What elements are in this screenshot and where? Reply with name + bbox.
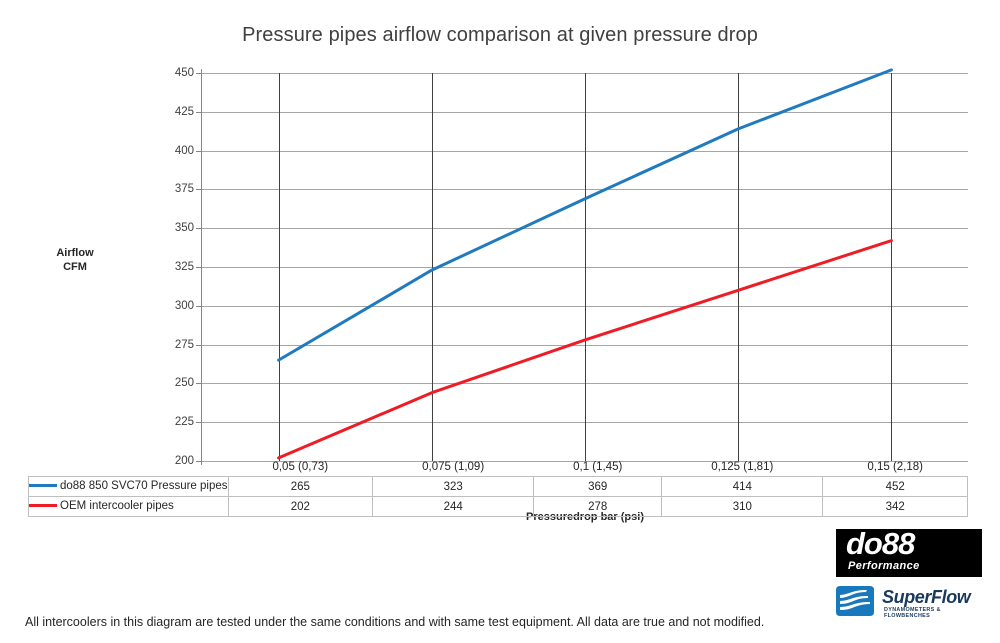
- table-row: OEM intercooler pipes202244278310342: [29, 497, 968, 517]
- legend-entry-1: OEM intercooler pipes: [29, 497, 229, 517]
- y-tick-450: [196, 73, 202, 74]
- x-tick-label-4: 0,15 (2,18): [823, 457, 968, 477]
- y-axis-tick-labels: 200225250275300325350375400425450: [148, 73, 194, 461]
- table-cell-value: 244: [373, 497, 534, 517]
- table-row-categories: 0,05 (0,73)0,075 (1,09)0,1 (1,45)0,125 (…: [29, 457, 968, 477]
- table-cell-value: 278: [534, 497, 662, 517]
- y-tick-350: [196, 228, 202, 229]
- table-cell-value: 323: [373, 477, 534, 497]
- table-cell-value: 414: [662, 477, 823, 497]
- do88-wordmark: do88: [846, 529, 914, 561]
- y-tick-275: [196, 345, 202, 346]
- x-tick-label-3: 0,125 (1,81): [662, 457, 823, 477]
- line-do88-pressure-pipes: [279, 70, 892, 360]
- legend-swatch-icon: [29, 484, 57, 487]
- table-corner-cell: [29, 457, 229, 477]
- y-tick-label-275: 275: [154, 339, 194, 351]
- y-tick-225: [196, 422, 202, 423]
- footer-note: All intercoolers in this diagram are tes…: [25, 615, 764, 629]
- y-tick-label-250: 250: [154, 377, 194, 389]
- table-row: do88 850 SVC70 Pressure pipes26532336941…: [29, 477, 968, 497]
- superflow-swoosh-icon: [836, 583, 876, 619]
- y-tick-300: [196, 306, 202, 307]
- superflow-wordmark: SuperFlow: [882, 587, 970, 608]
- line-oem-intercooler-pipes: [279, 241, 892, 458]
- y-tick-label-425: 425: [154, 106, 194, 118]
- y-tick-label-350: 350: [154, 222, 194, 234]
- do88-subtitle: Performance: [848, 560, 920, 572]
- table-cell-value: 342: [823, 497, 968, 517]
- y-axis-title-line1: Airflow: [20, 246, 130, 260]
- y-tick-400: [196, 151, 202, 152]
- x-tick-label-1: 0,075 (1,09): [373, 457, 534, 477]
- y-tick-375: [196, 189, 202, 190]
- data-table: 0,05 (0,73)0,075 (1,09)0,1 (1,45)0,125 (…: [28, 457, 968, 517]
- y-tick-325: [196, 267, 202, 268]
- series-lines: [202, 73, 968, 461]
- table-cell-value: 369: [534, 477, 662, 497]
- legend-label: do88 850 SVC70 Pressure pipes: [60, 480, 228, 492]
- y-axis-title-line2: CFM: [20, 260, 130, 274]
- superflow-name-part1: Super: [882, 587, 931, 607]
- legend-label: OEM intercooler pipes: [60, 500, 174, 512]
- plot-area: [202, 73, 968, 461]
- table-cell-value: 202: [228, 497, 373, 517]
- table-cell-value: 452: [823, 477, 968, 497]
- y-tick-label-225: 225: [154, 416, 194, 428]
- legend-swatch-icon: [29, 504, 57, 507]
- do88-logo: do88 Performance: [836, 529, 982, 577]
- y-tick-label-325: 325: [154, 261, 194, 273]
- y-axis-title: Airflow CFM: [20, 246, 130, 274]
- x-tick-label-2: 0,1 (1,45): [534, 457, 662, 477]
- table-cell-value: 265: [228, 477, 373, 497]
- y-tick-label-300: 300: [154, 300, 194, 312]
- superflow-subtitle: DYNAMOMETERS & FLOWBENCHES: [884, 607, 986, 619]
- y-tick-label-450: 450: [154, 67, 194, 79]
- chart-title: Pressure pipes airflow comparison at giv…: [0, 24, 1000, 47]
- x-tick-label-0: 0,05 (0,73): [228, 457, 373, 477]
- y-tick-label-400: 400: [154, 145, 194, 157]
- superflow-name-part2: Flow: [931, 587, 970, 607]
- y-tick-425: [196, 112, 202, 113]
- table-cell-value: 310: [662, 497, 823, 517]
- y-tick-label-375: 375: [154, 183, 194, 195]
- legend-entry-0: do88 850 SVC70 Pressure pipes: [29, 477, 229, 497]
- y-tick-250: [196, 383, 202, 384]
- superflow-logo: SuperFlow DYNAMOMETERS & FLOWBENCHES: [836, 583, 986, 619]
